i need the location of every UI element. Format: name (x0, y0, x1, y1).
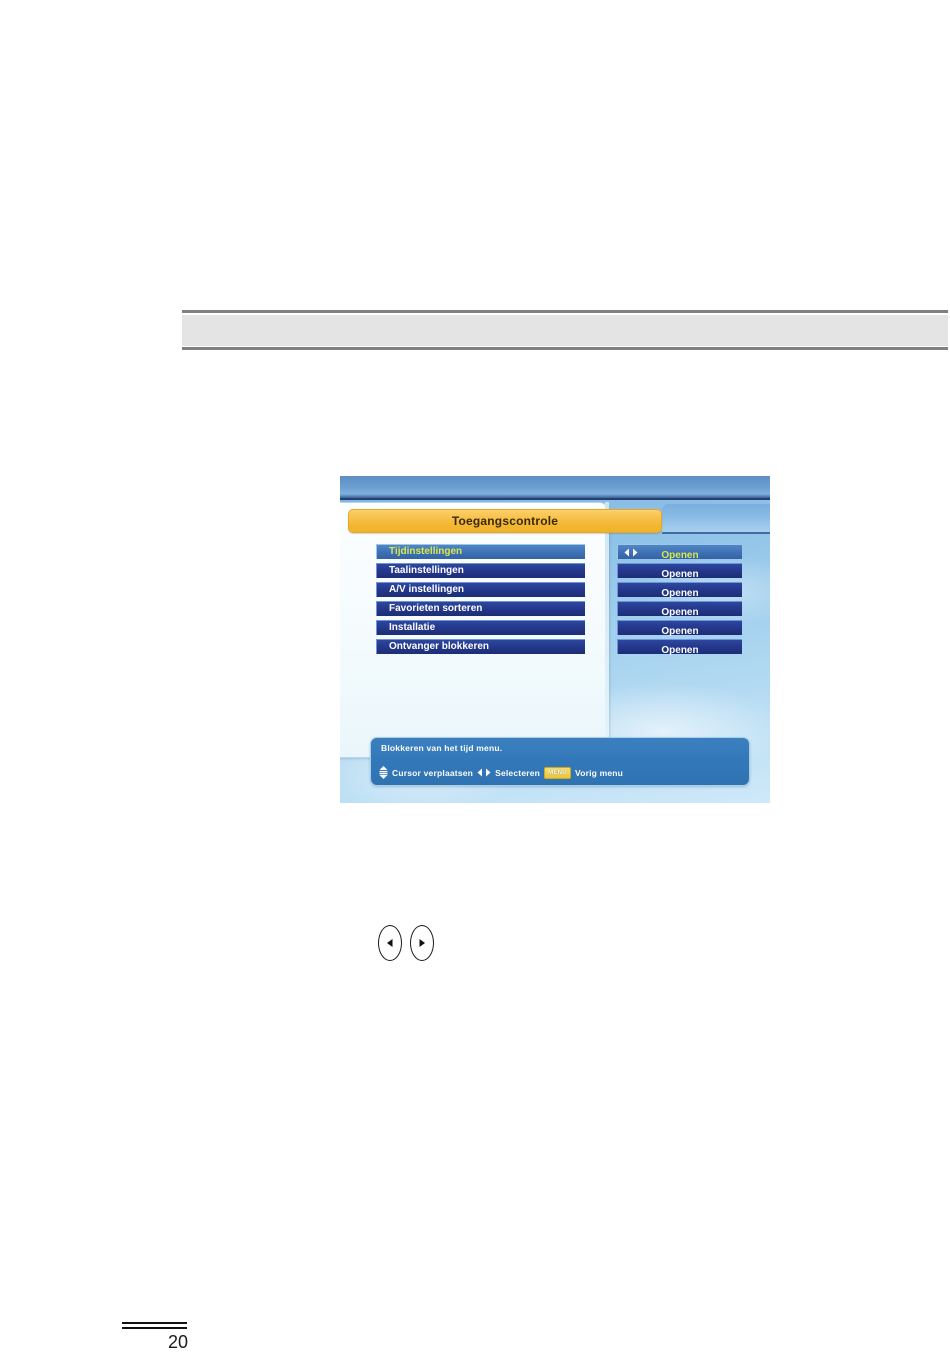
menu-row-label: Favorieten sorteren (389, 602, 482, 616)
left-right-arrows-icon (624, 548, 638, 557)
value-row-label: Openen (661, 626, 698, 637)
menu-row-favorieten-sorteren[interactable]: Favorieten sorteren (376, 601, 585, 616)
osd-title-text: Toegangscontrole (349, 510, 661, 532)
value-row-label: Openen (661, 645, 698, 656)
value-row-label: Openen (661, 607, 698, 618)
header-band-text (182, 315, 948, 322)
value-row-ontvanger-blokkeren[interactable]: Openen (617, 639, 742, 654)
menu-row-label: Ontvanger blokkeren (389, 640, 489, 654)
value-row-tijdinstellingen[interactable]: Openen (617, 544, 742, 559)
menu-row-taalinstellingen[interactable]: Taalinstellingen (376, 563, 585, 578)
menu-row-label: Tijdinstellingen (389, 545, 462, 559)
menu-row-installatie[interactable]: Installatie (376, 620, 585, 635)
page-number: 20 (168, 1332, 188, 1353)
menu-key-badge: MENU (544, 767, 571, 779)
header-rule-top (182, 310, 948, 313)
osd-value-list: Openen Openen Openen Openen Openen Opene… (617, 544, 742, 658)
menu-row-av-instellingen[interactable]: A/V instellingen (376, 582, 585, 597)
osd-help-hints: Cursor verplaatsen Selecteren MENU Vorig… (379, 766, 623, 780)
footer-rule (122, 1322, 187, 1332)
osd-screenshot: Toegangscontrole Tijdinstellingen Taalin… (340, 476, 770, 803)
value-row-favorieten-sorteren[interactable]: Openen (617, 601, 742, 616)
osd-title-decoration (662, 504, 770, 534)
value-row-label: Openen (661, 550, 698, 561)
osd-help-bar: Blokkeren van het tijd menu. Cursor verp… (370, 737, 750, 786)
up-down-arrows-icon (379, 766, 388, 781)
right-arrow-key-icon (410, 925, 434, 961)
value-row-label: Openen (661, 569, 698, 580)
menu-row-label: Installatie (389, 621, 435, 635)
value-row-installatie[interactable]: Openen (617, 620, 742, 635)
osd-panel-edge (605, 502, 609, 756)
header-rule-bottom (182, 347, 948, 350)
value-row-av-instellingen[interactable]: Openen (617, 582, 742, 597)
value-row-label: Openen (661, 588, 698, 599)
left-right-arrows-icon (477, 768, 491, 779)
left-arrow-key-icon (378, 925, 402, 961)
menu-row-label: A/V instellingen (389, 583, 464, 597)
menu-row-ontvanger-blokkeren[interactable]: Ontvanger blokkeren (376, 639, 585, 654)
osd-help-move-label: Cursor verplaatsen (392, 768, 473, 778)
osd-menu-list: Tijdinstellingen Taalinstellingen A/V in… (376, 544, 585, 658)
header-band (182, 315, 948, 346)
osd-help-select-label: Selecteren (495, 768, 540, 778)
osd-title-bar: Toegangscontrole (348, 509, 662, 533)
osd-help-description: Blokkeren van het tijd menu. (381, 743, 502, 753)
osd-top-band (340, 476, 770, 500)
value-row-taalinstellingen[interactable]: Openen (617, 563, 742, 578)
menu-row-label: Taalinstellingen (389, 564, 464, 578)
menu-row-tijdinstellingen[interactable]: Tijdinstellingen (376, 544, 585, 559)
osd-help-back-label: Vorig menu (575, 768, 623, 778)
arrow-key-glyphs (378, 925, 434, 961)
